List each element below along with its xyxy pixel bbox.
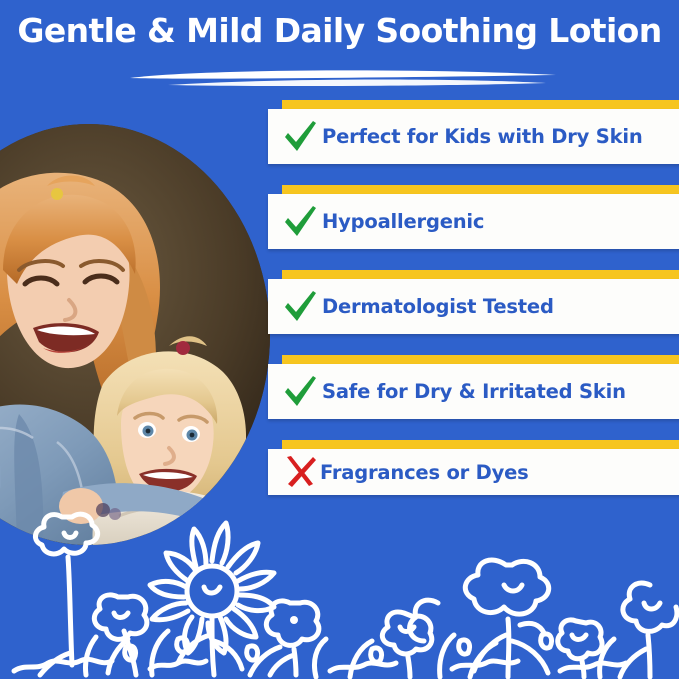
check-icon bbox=[278, 200, 322, 244]
feature-row[interactable]: Hypoallergenic bbox=[268, 185, 679, 270]
feature-label: Fragrances or Dyes bbox=[320, 461, 529, 484]
feature-panel[interactable]: Safe for Dry & Irritated Skin bbox=[268, 364, 679, 419]
feature-panel[interactable]: Dermatologist Tested bbox=[268, 279, 679, 334]
feature-list: Perfect for Kids with Dry Skin Hypoaller… bbox=[268, 100, 679, 525]
feature-label: Dermatologist Tested bbox=[322, 295, 554, 318]
feature-label: Perfect for Kids with Dry Skin bbox=[322, 125, 643, 148]
row-accent-bar bbox=[282, 100, 679, 109]
page-title: Gentle & Mild Daily Soothing Lotion bbox=[17, 14, 661, 49]
feature-row[interactable]: Fragrances or Dyes bbox=[268, 440, 679, 525]
feature-label: Safe for Dry & Irritated Skin bbox=[322, 380, 626, 403]
row-accent-bar bbox=[282, 185, 679, 194]
feature-row[interactable]: Dermatologist Tested bbox=[268, 270, 679, 355]
feature-panel[interactable]: Hypoallergenic bbox=[268, 194, 679, 249]
product-feature-poster: Gentle & Mild Daily Soothing Lotion bbox=[0, 0, 679, 679]
row-accent-bar bbox=[282, 440, 679, 449]
row-accent-bar bbox=[282, 270, 679, 279]
feature-row[interactable]: Perfect for Kids with Dry Skin bbox=[268, 100, 679, 185]
two-girls-hugging-illustration bbox=[0, 124, 270, 545]
check-icon bbox=[278, 115, 322, 159]
cross-icon bbox=[278, 450, 322, 494]
feature-row[interactable]: Safe for Dry & Irritated Skin bbox=[268, 355, 679, 440]
check-icon bbox=[278, 285, 322, 329]
title-block: Gentle & Mild Daily Soothing Lotion bbox=[0, 14, 679, 86]
row-accent-bar bbox=[282, 355, 679, 364]
feature-panel[interactable]: Fragrances or Dyes bbox=[268, 449, 679, 495]
check-icon bbox=[278, 370, 322, 414]
feature-panel[interactable]: Perfect for Kids with Dry Skin bbox=[268, 109, 679, 164]
hero-photo bbox=[0, 124, 270, 545]
feature-label: Hypoallergenic bbox=[322, 210, 484, 233]
